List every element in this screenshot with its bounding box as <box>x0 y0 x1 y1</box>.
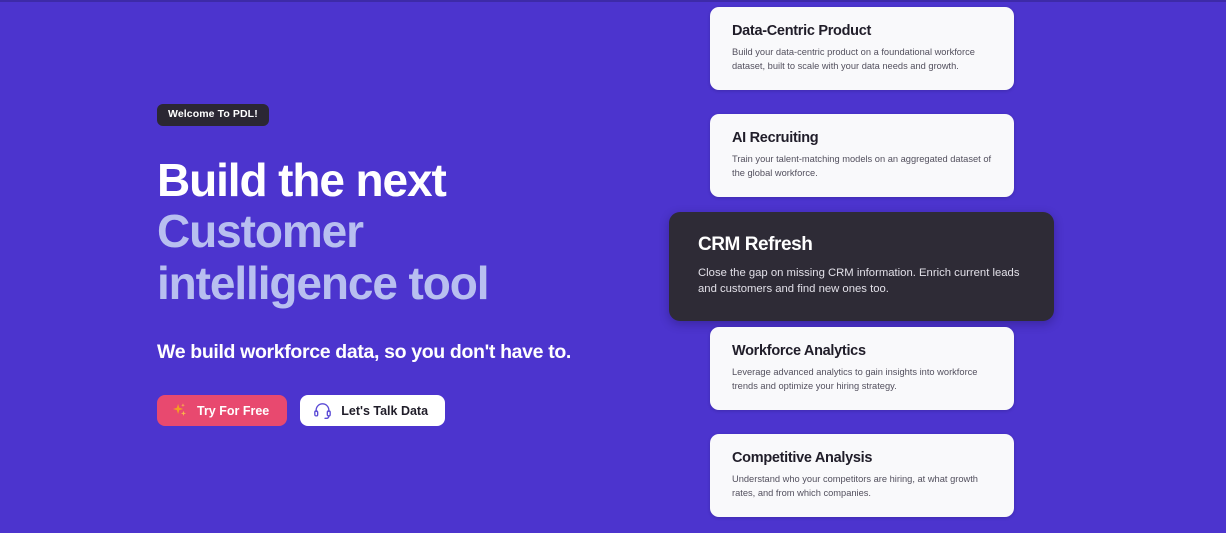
headline-line-3: intelligence tool <box>157 258 677 310</box>
use-case-card-workforce-analytics[interactable]: Workforce Analytics Leverage advanced an… <box>710 327 1014 410</box>
card-description: Understand who your competitors are hiri… <box>732 473 992 500</box>
card-title: AI Recruiting <box>732 130 992 147</box>
card-description: Build your data-centric product on a fou… <box>732 46 992 73</box>
card-title: Data-Centric Product <box>732 23 992 40</box>
headline-line-1: Build the next <box>157 155 677 207</box>
cta-button-row: Try For Free Let's Talk Data <box>157 395 677 426</box>
card-description: Train your talent-matching models on an … <box>732 153 992 180</box>
try-for-free-button[interactable]: Try For Free <box>157 395 287 426</box>
card-title: Workforce Analytics <box>732 343 992 360</box>
hero-section: Welcome To PDL! Build the next Customer … <box>0 0 1226 538</box>
card-description: Leverage advanced analytics to gain insi… <box>732 366 992 393</box>
sparkles-icon <box>171 402 188 419</box>
page-title: Build the next Customer intelligence too… <box>157 155 677 311</box>
lets-talk-data-button[interactable]: Let's Talk Data <box>300 395 445 426</box>
use-case-card-competitive-analysis[interactable]: Competitive Analysis Understand who your… <box>710 434 1014 517</box>
hero-copy-column: Welcome To PDL! Build the next Customer … <box>157 104 677 426</box>
welcome-badge: Welcome To PDL! <box>157 104 269 126</box>
subheadline: We build workforce data, so you don't ha… <box>157 341 677 364</box>
headset-icon <box>313 401 332 420</box>
use-case-card-data-centric-product[interactable]: Data-Centric Product Build your data-cen… <box>710 7 1014 90</box>
headline-line-2: Customer <box>157 206 677 258</box>
use-case-card-list: Data-Centric Product Build your data-cen… <box>669 0 1069 538</box>
card-title: Competitive Analysis <box>732 450 992 467</box>
card-description: Close the gap on missing CRM information… <box>698 265 1026 297</box>
try-for-free-label: Try For Free <box>197 405 269 418</box>
card-title: CRM Refresh <box>698 234 1026 257</box>
use-case-card-ai-recruiting[interactable]: AI Recruiting Train your talent-matching… <box>710 114 1014 197</box>
bottom-edge-strip <box>0 533 1226 538</box>
lets-talk-data-label: Let's Talk Data <box>341 405 428 418</box>
use-case-card-crm-refresh[interactable]: CRM Refresh Close the gap on missing CRM… <box>669 212 1054 321</box>
